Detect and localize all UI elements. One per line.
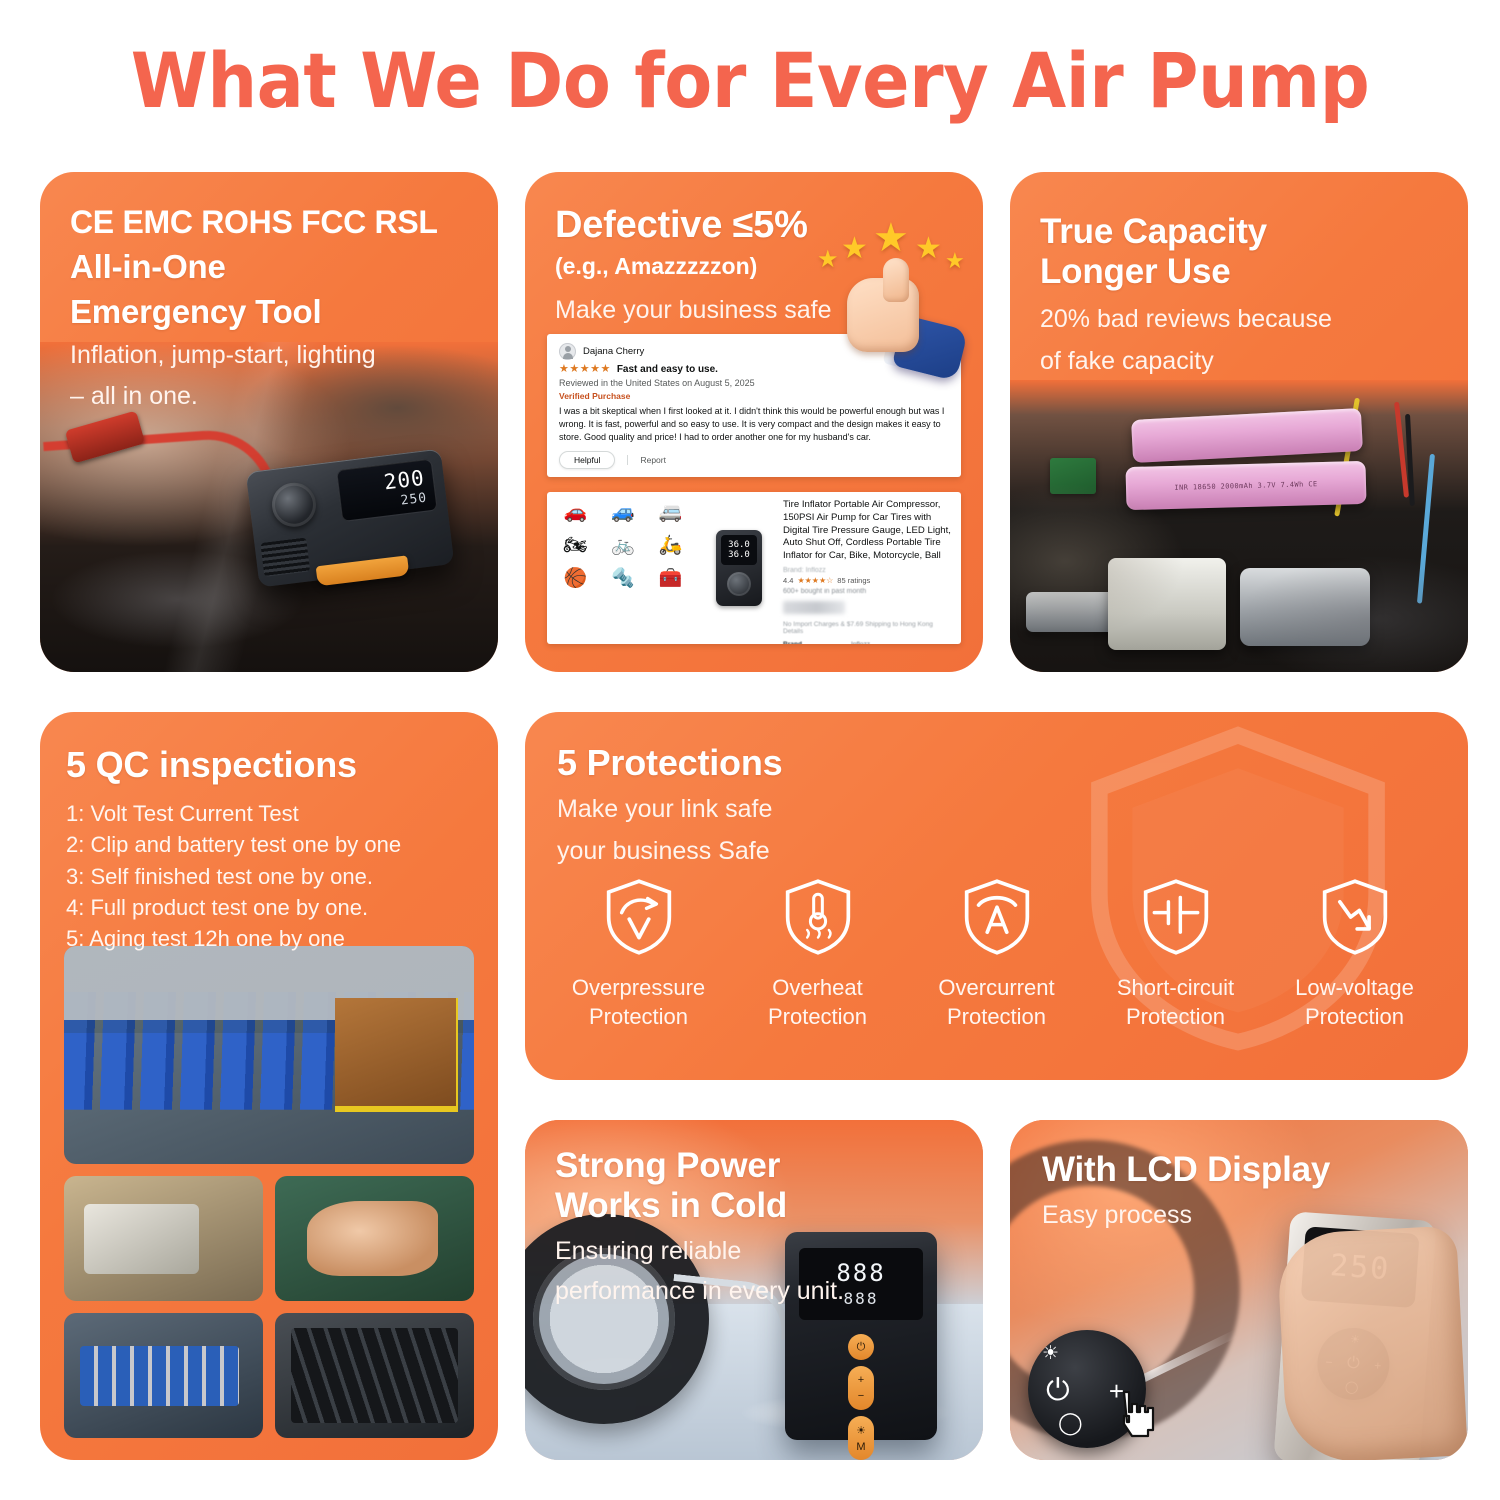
mini-pump-illustration: 36.0 36.0 xyxy=(716,530,762,606)
listing-spec-table: Brand Inflozz Recommended Uses For Produ… xyxy=(783,640,953,644)
list-item: 2: Clip and battery test one by one xyxy=(66,829,486,860)
listing-stars: ★★★★☆ xyxy=(797,576,833,585)
card2-marketplace-note: (e.g., Amazzzzzon) xyxy=(555,253,885,280)
thermometer-shield-icon xyxy=(783,878,853,956)
motorcycle-icon: 🏍 xyxy=(553,531,598,561)
avatar xyxy=(559,343,576,360)
card2-heading: Defective ≤5% xyxy=(555,204,885,247)
protections-row: Overpressure Protection Overheat Protect… xyxy=(549,878,1444,1056)
card-defective-rate: Defective ≤5% (e.g., Amazzzzzon) Make yo… xyxy=(525,172,983,672)
review-stars: ★★★★★ xyxy=(559,364,611,375)
red-wire xyxy=(1394,402,1409,498)
ball-icon: 🏀 xyxy=(553,564,598,594)
qc-photo-assembly-station xyxy=(64,1176,263,1301)
listing-ratings-count: 85 ratings xyxy=(837,576,870,585)
card-qc-text: 5 QC inspections 1: Volt Test Current Te… xyxy=(66,744,486,954)
cold-pump-pressure-buttons[interactable]: +− xyxy=(848,1366,874,1410)
thumbs-up-icon xyxy=(841,258,969,386)
holding-hand xyxy=(1276,1225,1468,1460)
card1-sub-line2: – all in one. xyxy=(70,381,480,412)
device-lcd-primary: 200 xyxy=(383,467,426,493)
listing-product-image: 36.0 36.0 xyxy=(697,492,781,644)
pump-head xyxy=(1108,558,1226,650)
card3-heading-line2: Longer Use xyxy=(1040,252,1440,292)
page-title: What We Do for Every Air Pump xyxy=(60,36,1440,125)
review-body: I was a bit skeptical when I first looke… xyxy=(559,405,949,444)
protection-short-circuit: Short-circuit Protection xyxy=(1086,878,1265,1056)
protection-label-line2: Protection xyxy=(768,1003,867,1032)
scooter-icon: 🛵 xyxy=(648,531,693,561)
listing-shipping: No Import Charges & $7.69 Shipping to Ho… xyxy=(783,621,953,635)
card6-sub-line2: performance in every unit. xyxy=(555,1276,955,1307)
amazon-listing-card: 🚗 🚙 🚐 🏍 🚲 🛵 🏀 🔩 🧰 36.0 36.0 xyxy=(547,492,961,644)
review-title: Fast and easy to use. xyxy=(617,364,718,375)
van-icon: 🚐 xyxy=(648,498,693,528)
card5-sub-line2: your business Safe xyxy=(557,836,782,867)
card3-heading-line1: True Capacity xyxy=(1040,212,1440,252)
card-lcd-display: 250 ☀ ⏻ + − ◯ ☀ ⏻ + ◯ With xyxy=(1010,1120,1468,1460)
card-all-in-one-text: CE EMC ROHS FCC RSL All-in-One Emergency… xyxy=(70,204,480,411)
device-lcd: 200 250 xyxy=(336,459,438,522)
review-actions: Helpful Report xyxy=(559,451,949,469)
protection-label: Overheat Protection xyxy=(768,974,867,1031)
reviewer-name: Dajana Cherry xyxy=(583,346,644,357)
list-item: 5: Aging test 12h one by one xyxy=(66,923,486,954)
protection-label-line1: Short-circuit xyxy=(1117,974,1234,1003)
listing-title[interactable]: Tire Inflator Portable Air Compressor, 1… xyxy=(783,499,953,563)
card-defective-text: Defective ≤5% (e.g., Amazzzzzon) Make yo… xyxy=(555,204,885,325)
spec-value: Inflozz xyxy=(851,640,953,644)
card-qc-inspections: 5 QC inspections 1: Volt Test Current Te… xyxy=(40,712,498,1460)
protection-low-voltage: Low-voltage Protection xyxy=(1265,878,1444,1056)
certifications-label: CE EMC ROHS FCC RSL xyxy=(70,204,480,241)
verified-purchase-badge: Verified Purchase xyxy=(559,391,949,401)
bicycle-icon: 🚲 xyxy=(601,531,646,561)
qc-photo-wiring-rack xyxy=(64,1313,263,1438)
listing-brand: Brand: Inflozz xyxy=(783,567,953,574)
spec-key: Brand xyxy=(783,640,851,644)
mini-lcd-primary: 36.0 xyxy=(728,540,750,550)
protection-overpressure: Overpressure Protection xyxy=(549,878,728,1056)
device-dial xyxy=(269,480,318,529)
protection-label-line1: Overheat xyxy=(768,974,867,1003)
hose-icon: 🧰 xyxy=(648,564,693,594)
electric-motor xyxy=(1240,568,1370,646)
qc-step-list: 1: Volt Test Current Test 2: Clip and ba… xyxy=(66,798,486,954)
qc-photo-aging-rack xyxy=(275,1313,474,1438)
car-icon: 🚗 xyxy=(553,498,598,528)
callout-cycle-icon: ◯ xyxy=(1058,1412,1083,1434)
card3-sub-line2: of fake capacity xyxy=(1040,346,1440,377)
card7-sub: Easy process xyxy=(1042,1200,1442,1231)
protection-overcurrent: Overcurrent Protection xyxy=(907,878,1086,1056)
protection-label: Short-circuit Protection xyxy=(1117,974,1234,1031)
protection-label-line1: Low-voltage xyxy=(1295,974,1414,1003)
yellow-wire xyxy=(1334,398,1360,517)
card-strong-power-cold: 888 888 ⏻ +− ☀M Strong Power Works in Co… xyxy=(525,1120,983,1460)
mini-pump-knob xyxy=(727,572,751,596)
card4-heading: 5 QC inspections xyxy=(66,744,486,785)
protection-label-line2: Protection xyxy=(1117,1003,1234,1032)
device-lcd-secondary: 250 xyxy=(400,491,428,507)
qc-photo-battery-test-bench xyxy=(64,946,474,1164)
card3-sub-line1: 20% bad reviews because xyxy=(1040,304,1440,335)
hand-cursor-icon xyxy=(1114,1386,1158,1438)
card2-tagline: Make your business safe xyxy=(555,296,885,325)
short-circuit-shield-icon xyxy=(1141,878,1211,956)
card1-heading-line2: Emergency Tool xyxy=(70,293,480,331)
suv-icon: 🚙 xyxy=(601,498,646,528)
cold-pump-power-button[interactable]: ⏻ xyxy=(848,1334,874,1360)
helpful-button[interactable]: Helpful xyxy=(559,451,615,469)
card1-sub-line1: Inflation, jump-start, lighting xyxy=(70,340,480,371)
thumb-up-finger xyxy=(883,258,909,302)
protection-label: Overpressure Protection xyxy=(572,974,705,1031)
card-strong-power-text: Strong Power Works in Cold Ensuring reli… xyxy=(555,1146,955,1307)
list-item: 1: Volt Test Current Test xyxy=(66,798,486,829)
circuit-board xyxy=(1050,458,1096,494)
card-all-in-one: 200 250 CE EMC ROHS FCC RSL All-in-One E… xyxy=(40,172,498,672)
device-vent xyxy=(260,538,310,577)
callout-power-icon: ⏻ xyxy=(1046,1376,1070,1406)
ampere-shield-icon xyxy=(962,878,1032,956)
protection-label-line1: Overpressure xyxy=(572,974,705,1003)
pump-cylinder xyxy=(1026,592,1122,632)
card-protections-text: 5 Protections Make your link safe your b… xyxy=(557,742,782,866)
listing-rating-row: 4.4 ★★★★☆ 85 ratings xyxy=(783,576,953,585)
qc-photo-grid xyxy=(64,946,474,1438)
card1-heading-line1: All-in-One xyxy=(70,248,480,286)
blue-wire xyxy=(1417,454,1435,604)
battery-internals-photo: INR 18650 2000mAh 3.7V 7.4Wh CE xyxy=(1010,380,1468,672)
battery-cell xyxy=(1131,408,1363,463)
card-true-capacity: INR 18650 2000mAh 3.7V 7.4Wh CE True Cap… xyxy=(1010,172,1468,672)
protection-overheat: Overheat Protection xyxy=(728,878,907,1056)
low-voltage-shield-icon xyxy=(1320,878,1390,956)
protection-label-line2: Protection xyxy=(1295,1003,1414,1032)
callout-light-icon: ☀ xyxy=(1042,1344,1059,1363)
card-five-protections: 5 Protections Make your link safe your b… xyxy=(525,712,1468,1080)
card7-heading: With LCD Display xyxy=(1042,1150,1442,1190)
report-link[interactable]: Report xyxy=(627,455,666,465)
table-row: Brand Inflozz xyxy=(783,640,953,644)
list-item: 3: Self finished test one by one. xyxy=(66,861,486,892)
card6-heading-line2: Works in Cold xyxy=(555,1186,955,1226)
gauge-shield-icon xyxy=(604,878,674,956)
card5-sub-line1: Make your link safe xyxy=(557,794,782,825)
protection-label-line2: Protection xyxy=(572,1003,705,1032)
protection-label: Low-voltage Protection xyxy=(1295,974,1414,1031)
card-lcd-text: With LCD Display Easy process xyxy=(1042,1150,1442,1230)
listing-details: Tire Inflator Portable Air Compressor, 1… xyxy=(781,492,961,644)
listing-rating-value: 4.4 xyxy=(783,576,793,585)
card6-sub-line1: Ensuring reliable xyxy=(555,1236,955,1267)
card5-heading: 5 Protections xyxy=(557,742,782,783)
nozzle-icon: 🔩 xyxy=(601,564,646,594)
infographic-page: What We Do for Every Air Pump 200 250 CE… xyxy=(0,0,1500,1500)
protection-label-line2: Protection xyxy=(938,1003,1054,1032)
card-true-capacity-text: True Capacity Longer Use 20% bad reviews… xyxy=(1040,212,1440,377)
listing-bought-count: 600+ bought in past month xyxy=(783,588,953,595)
protection-label-line1: Overcurrent xyxy=(938,974,1054,1003)
mini-pump-lcd: 36.0 36.0 xyxy=(721,535,757,565)
air-pump-device: 200 250 xyxy=(246,448,455,587)
list-item: 4: Full product test one by one. xyxy=(66,892,486,923)
card6-heading-line1: Strong Power xyxy=(555,1146,955,1186)
mini-lcd-secondary: 36.0 xyxy=(728,550,750,560)
protection-label: Overcurrent Protection xyxy=(938,974,1054,1031)
listing-thumbnails: 🚗 🚙 🚐 🏍 🚲 🛵 🏀 🔩 🧰 xyxy=(547,492,697,644)
qc-photo-hand-testing xyxy=(275,1176,474,1301)
cold-pump-mode-buttons[interactable]: ☀M xyxy=(848,1416,874,1460)
listing-price-blurred xyxy=(783,601,845,614)
battery-cell: INR 18650 2000mAh 3.7V 7.4Wh CE xyxy=(1125,461,1366,510)
black-wire xyxy=(1405,414,1415,506)
